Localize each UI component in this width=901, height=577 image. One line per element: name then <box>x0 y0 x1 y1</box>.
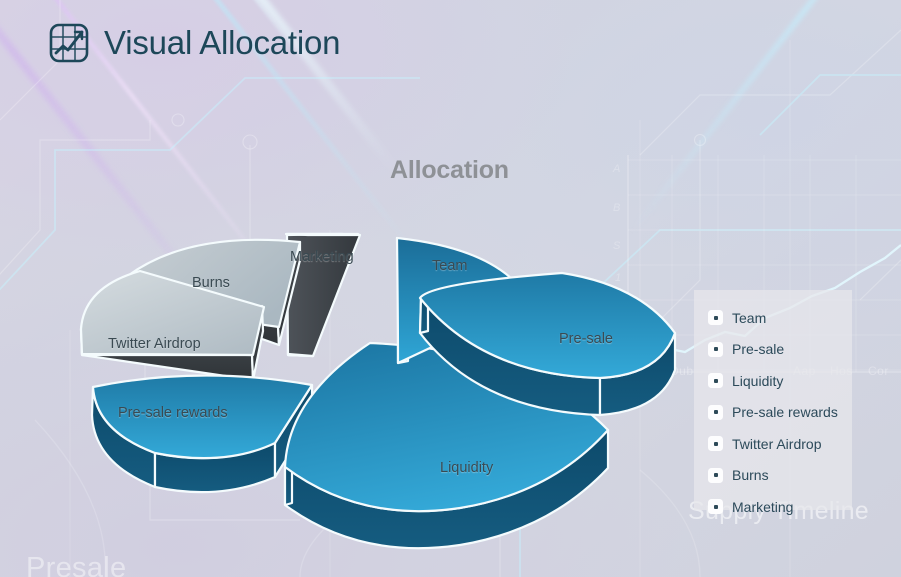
legend-item-label: Pre-sale rewards <box>732 404 838 420</box>
legend-item-label: Team <box>732 310 766 326</box>
legend-item-team[interactable]: Team <box>708 302 842 334</box>
legend-item-label: Marketing <box>732 499 793 515</box>
page-header: Visual Allocation <box>48 22 340 64</box>
legend-swatch-icon <box>708 499 723 514</box>
legend-swatch-icon <box>708 468 723 483</box>
legend-swatch-icon <box>708 373 723 388</box>
chart-legend: Team Pre-sale Liquidity Pre-sale rewards… <box>694 290 852 510</box>
legend-item-presale[interactable]: Pre-sale <box>708 334 842 366</box>
legend-swatch-icon <box>708 310 723 325</box>
legend-item-liquidity[interactable]: Liquidity <box>708 365 842 397</box>
legend-swatch-icon <box>708 436 723 451</box>
chart-title: Allocation <box>390 156 590 185</box>
legend-item-label: Liquidity <box>732 373 783 389</box>
chart-grid-line-icon <box>48 22 90 64</box>
legend-item-label: Pre-sale <box>732 341 784 357</box>
legend-item-burns[interactable]: Burns <box>708 460 842 492</box>
legend-swatch-icon <box>708 342 723 357</box>
legend-item-twitter-airdrop[interactable]: Twitter Airdrop <box>708 428 842 460</box>
page-title: Visual Allocation <box>104 24 340 62</box>
legend-item-label: Twitter Airdrop <box>732 436 821 452</box>
pie-slice-presale-rewards <box>92 375 312 492</box>
legend-swatch-icon <box>708 405 723 420</box>
legend-item-marketing[interactable]: Marketing <box>708 491 842 523</box>
legend-item-label: Burns <box>732 467 769 483</box>
legend-item-presale-rewards[interactable]: Pre-sale rewards <box>708 397 842 429</box>
pie-3d-graphic <box>60 215 680 575</box>
